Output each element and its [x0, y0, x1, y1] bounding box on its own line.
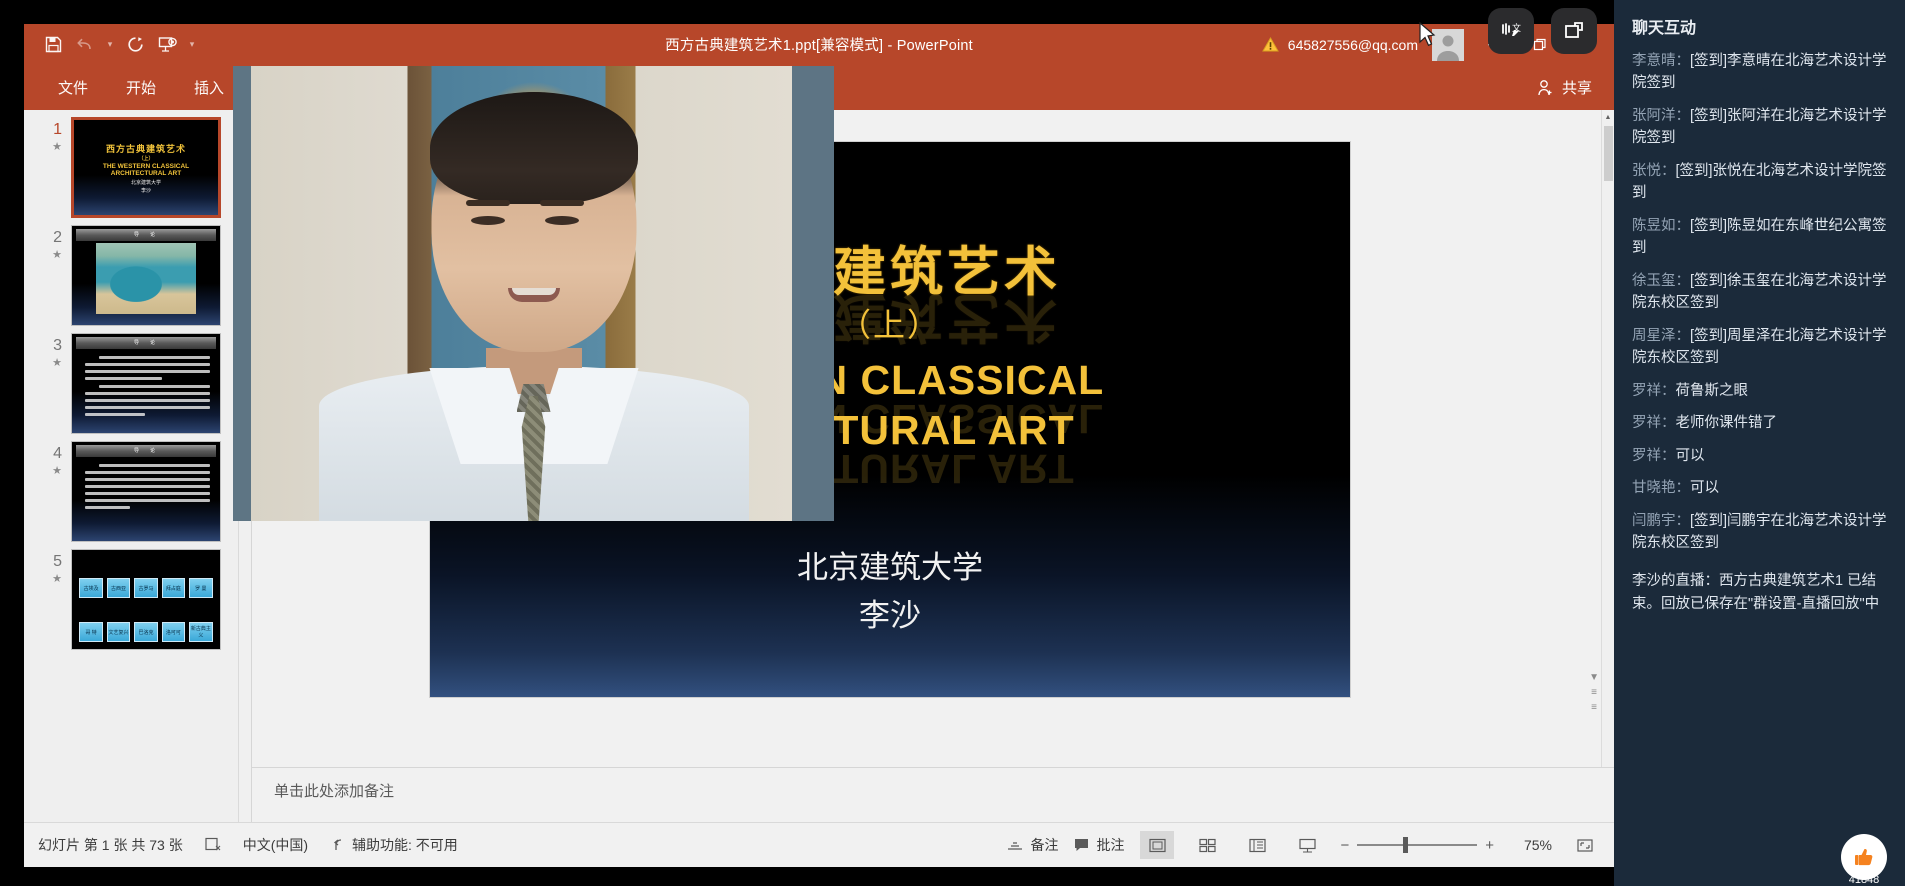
view-reading-button[interactable] [1240, 831, 1274, 859]
animation-star-icon: ★ [24, 357, 62, 369]
chat-sender: 罗祥： [1632, 448, 1676, 464]
chat-message: 徐玉玺：[签到]徐玉玺在北海艺术设计学院东校区签到 [1632, 270, 1887, 315]
chat-body: 荷鲁斯之眼 [1676, 383, 1749, 399]
popout-icon [1562, 19, 1586, 43]
redo-icon[interactable] [120, 31, 150, 59]
presentation-icon[interactable] [152, 31, 182, 59]
chevron-down-icon[interactable]: ▾ [184, 31, 200, 59]
chat-system-message: 李沙的直播：西方古典建筑艺术1 已结束。回放已保存在"群设置-直播回放"中 [1632, 570, 1887, 615]
accessibility-status[interactable]: 辅助功能: 不可用 [330, 835, 458, 855]
share-person-icon [1537, 79, 1554, 96]
thumb4-body-lines [85, 464, 209, 513]
accessibility-label: 辅助功能: 不可用 [352, 835, 458, 855]
thumb1-author: 李沙 [74, 188, 218, 196]
chat-message: 罗祥：老师你课件错了 [1632, 412, 1887, 434]
chat-sender: 张悦： [1632, 163, 1676, 179]
spellcheck-icon[interactable] [205, 837, 221, 854]
chat-sender: 周星泽： [1632, 328, 1690, 344]
thumb1-org: 北京建筑大学 [74, 180, 218, 188]
tab-home[interactable]: 开始 [110, 73, 172, 102]
notes-toggle[interactable]: 备注 [1007, 835, 1058, 855]
chat-body: 可以 [1690, 480, 1719, 496]
thumb3-header: 导 论 [76, 337, 216, 349]
zoom-out-button[interactable]: − [1340, 837, 1349, 854]
tab-file[interactable]: 文件 [42, 73, 104, 102]
chat-message: 张悦：[签到]张悦在北海艺术设计学院签到 [1632, 160, 1887, 205]
mouse-cursor-icon [1418, 22, 1440, 48]
slide-thumbnail-1[interactable]: 1 ★ 西方古典建筑艺术 （上） THE WESTERN CLASSICAL A… [24, 110, 251, 218]
slide-thumbnail-2[interactable]: 2 ★ 导 论 [24, 218, 251, 326]
quick-access-toolbar: ▾ ▾ [24, 31, 200, 59]
comments-toggle[interactable]: 批注 [1074, 835, 1124, 855]
lecturer-hair [430, 92, 638, 204]
eyebrow-right [540, 200, 584, 206]
eye-left [471, 216, 505, 225]
animation-star-icon: ★ [24, 141, 62, 153]
annotate-button[interactable]: 文 [1488, 8, 1534, 54]
warning-icon [1262, 37, 1279, 52]
chat-message: 周星泽：[签到]周星泽在北海艺术设计学院东校区签到 [1632, 325, 1887, 370]
thumbs-up-icon [1851, 844, 1877, 870]
fit-window-icon [1577, 838, 1593, 853]
chat-sender: 罗祥： [1632, 383, 1676, 399]
thumb5-btn: 古罗马 [134, 578, 157, 598]
fit-to-window-button[interactable] [1568, 831, 1602, 859]
view-normal-button[interactable] [1140, 831, 1174, 859]
thumb5-btn: 古埃及 [79, 578, 102, 598]
chat-message: 李意晴：[签到]李意晴在北海艺术设计学院签到 [1632, 50, 1887, 95]
chat-message: 闫鹏宇：[签到]闫鹏宇在北海艺术设计学院东校区签到 [1632, 510, 1887, 555]
slide-number: 1 [53, 121, 62, 138]
chat-sender: 徐玉玺： [1632, 273, 1690, 289]
scrollbar-thumb[interactable] [1604, 126, 1613, 181]
eyebrow-left [466, 200, 510, 206]
thumb5-btn: 巴洛克 [134, 622, 157, 642]
chat-sender: 李意晴： [1632, 53, 1690, 69]
mediterranean-map-image [96, 243, 197, 314]
status-right: 备注 批注 − [1007, 831, 1614, 859]
thumb5-btn: 文艺复兴 [107, 622, 130, 642]
eye-right [545, 216, 579, 225]
view-sorter-button[interactable] [1190, 831, 1224, 859]
zoom-track[interactable] [1357, 844, 1477, 846]
slide-thumbnail-5[interactable]: 5 ★ 古埃及 古西亚 古罗马 拜占庭 罗 曼 哥 特 [24, 542, 251, 650]
thumb5-btn: 洛可可 [162, 622, 185, 642]
account-email: 645827556@qq.com [1288, 37, 1418, 53]
scroll-up-icon[interactable]: ▲ [1602, 110, 1614, 124]
slide-thumbnail-4[interactable]: 4 ★ 导 论 [24, 434, 251, 542]
notes-pane[interactable]: 单击此处添加备注 [252, 767, 1614, 822]
lecturer-video-overlay[interactable] [233, 66, 834, 521]
chat-sender: 罗祥： [1632, 415, 1676, 431]
status-bar: 幻灯片 第 1 张 共 73 张 中文(中国) 辅助功能: 不可用 备注 批注 [24, 822, 1614, 867]
thumb5-button-row-2: 哥 特 文艺复兴 巴洛克 洛可可 新古典主义 [79, 622, 212, 642]
stage-side-markers: ▼≡≡ [1589, 670, 1599, 715]
thumb5-btn: 哥 特 [79, 622, 102, 642]
comment-icon [1074, 838, 1089, 852]
normal-view-icon [1149, 838, 1166, 853]
popout-button[interactable] [1551, 8, 1597, 54]
undo-icon[interactable] [70, 31, 100, 59]
chat-sender: 陈昱如： [1632, 218, 1690, 234]
thumb5-button-row-1: 古埃及 古西亚 古罗马 拜占庭 罗 曼 [79, 578, 212, 598]
slide-number: 2 [53, 229, 62, 246]
chat-message: 罗祥：可以 [1632, 445, 1887, 467]
slide-organization: 北京建筑大学 [430, 542, 1350, 587]
undo-dropdown-icon[interactable]: ▾ [102, 31, 118, 59]
animation-star-icon: ★ [24, 249, 62, 261]
thumb1-title-cn: 西方古典建筑艺术 [74, 142, 218, 155]
slide-preview: 西方古典建筑艺术 （上） THE WESTERN CLASSICAL ARCHI… [71, 117, 221, 218]
thumb1-sub-cn: （上） [74, 155, 218, 162]
stage-scrollbar[interactable]: ▲ ▼≡≡ [1601, 110, 1614, 822]
animation-star-icon: ★ [24, 573, 62, 585]
chat-sender: 闫鹏宇： [1632, 513, 1690, 529]
status-left: 幻灯片 第 1 张 共 73 张 中文(中国) 辅助功能: 不可用 [24, 835, 458, 855]
thumb1-en2: ARCHITECTURAL ART [74, 170, 218, 177]
thumb5-btn: 罗 曼 [189, 578, 212, 598]
account-area[interactable]: 645827556@qq.com [1262, 37, 1418, 53]
chat-sender: 张阿洋： [1632, 108, 1690, 124]
thumb5-btn: 古西亚 [107, 578, 130, 598]
screen-root: ▾ ▾ 西方古典建筑艺术1.ppt[兼容模式] - PowerPoint 645… [0, 0, 1905, 886]
slide-thumbnail-3[interactable]: 3 ★ 导 论 [24, 326, 251, 434]
slide-preview: 导 论 [71, 225, 221, 326]
slide-count-label: 幻灯片 第 1 张 共 73 张 [38, 835, 183, 855]
thumb5-btn: 新古典主义 [189, 622, 212, 642]
tab-insert[interactable]: 插入 [178, 73, 240, 102]
zoom-slider[interactable]: − + [1340, 837, 1494, 854]
slide-preview: 导 论 [71, 333, 221, 434]
notes-icon [1007, 838, 1023, 852]
slide-number: 4 [53, 445, 62, 462]
slide-author: 李沙 [430, 590, 1350, 635]
pen-text-icon: 文 [1499, 19, 1523, 43]
reading-view-icon [1249, 838, 1266, 853]
thumb2-header: 导 论 [76, 229, 216, 241]
slide-sorter-icon [1199, 838, 1216, 853]
chat-title: 聊天互动 [1632, 14, 1887, 38]
slide-preview: 古埃及 古西亚 古罗马 拜占庭 罗 曼 哥 特 文艺复兴 巴洛克 洛可可 新古典… [71, 549, 221, 650]
svg-text:文: 文 [1512, 22, 1521, 33]
chat-panel[interactable]: 聊天互动 李意晴：[签到]李意晴在北海艺术设计学院签到 张阿洋：[签到]张阿洋在… [1614, 0, 1905, 886]
chat-body: 老师你课件错了 [1676, 415, 1778, 431]
language-label[interactable]: 中文(中国) [243, 835, 308, 855]
like-count: 41848 [1841, 874, 1887, 886]
thumb4-header: 导 论 [76, 445, 216, 457]
comments-label: 批注 [1096, 835, 1124, 855]
save-icon[interactable] [38, 31, 68, 59]
chat-sender: 甘晓艳： [1632, 480, 1690, 496]
view-slideshow-button[interactable] [1290, 831, 1324, 859]
share-label: 共享 [1562, 77, 1592, 98]
slide-number: 3 [53, 337, 62, 354]
chat-message: 甘晓艳：可以 [1632, 477, 1887, 499]
thumb5-btn: 拜占庭 [162, 578, 185, 598]
share-button[interactable]: 共享 [1537, 77, 1592, 98]
teeth [512, 288, 556, 295]
title-bar: ▾ ▾ 西方古典建筑艺术1.ppt[兼容模式] - PowerPoint 645… [24, 24, 1614, 65]
slide-thumbnail-panel[interactable]: 1 ★ 西方古典建筑艺术 （上） THE WESTERN CLASSICAL A… [24, 110, 252, 822]
zoom-in-button[interactable]: + [1485, 837, 1494, 854]
slideshow-icon [1299, 838, 1316, 853]
thumb1-en1: THE WESTERN CLASSICAL [74, 163, 218, 170]
slide-preview: 导 论 [71, 441, 221, 542]
notes-label: 备注 [1030, 835, 1058, 855]
zoom-percent[interactable]: 75% [1510, 837, 1552, 853]
notes-placeholder[interactable]: 单击此处添加备注 [252, 768, 1614, 801]
accessibility-icon [330, 838, 345, 852]
thumb3-body-lines [85, 356, 209, 420]
chat-body: 可以 [1676, 448, 1705, 464]
zoom-knob[interactable] [1403, 837, 1408, 853]
slide-number: 5 [53, 553, 62, 570]
chat-message: 陈昱如：[签到]陈昱如在东峰世纪公寓签到 [1632, 215, 1887, 260]
chat-message: 罗祥：荷鲁斯之眼 [1632, 380, 1887, 402]
chat-message: 张阿洋：[签到]张阿洋在北海艺术设计学院签到 [1632, 105, 1887, 150]
animation-star-icon: ★ [24, 465, 62, 477]
